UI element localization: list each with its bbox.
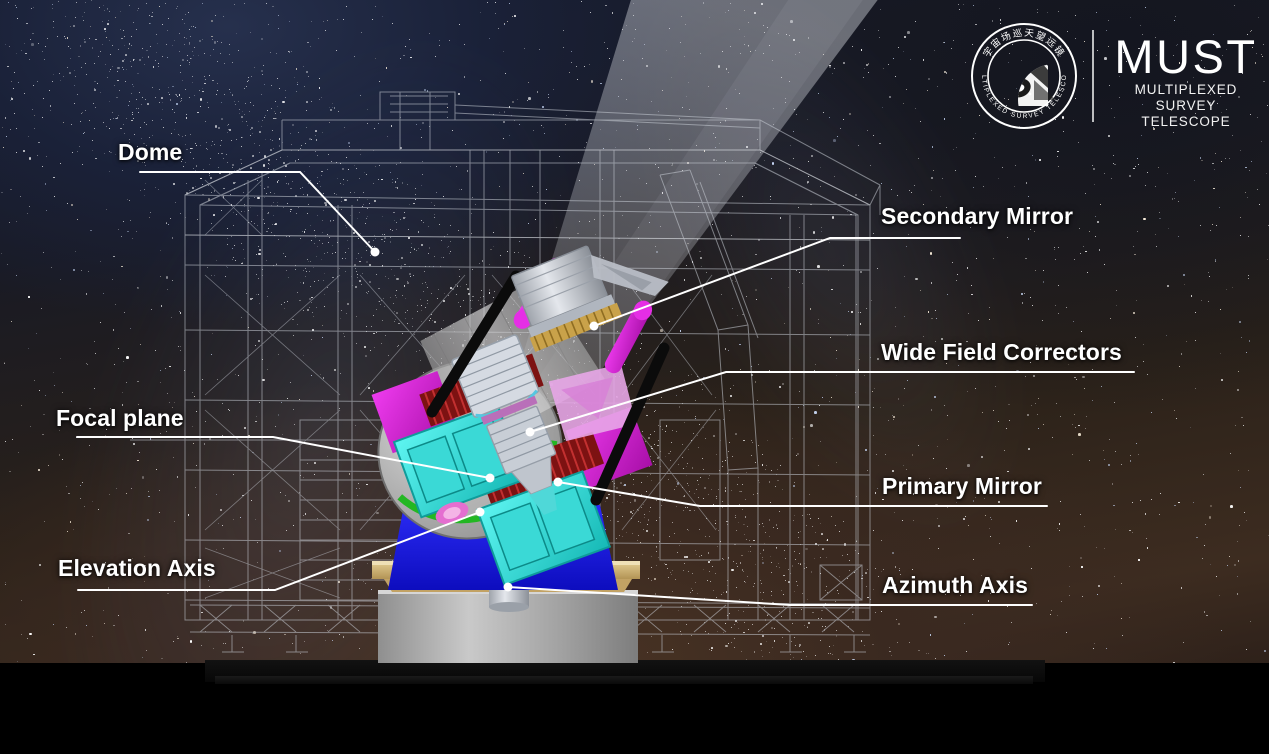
- logo-divider: [1092, 30, 1094, 122]
- label-dome: Dome: [118, 139, 182, 166]
- label-secondary-mirror: Secondary Mirror: [881, 203, 1073, 230]
- must-emblem-icon: 宇宙场巡天望远镜 MULTIPLEXED SURVEY TELESCOPE: [970, 22, 1078, 130]
- must-subtitle-line1: MULTIPLEXED: [1110, 82, 1262, 98]
- svg-text:宇宙场巡天望远镜: 宇宙场巡天望远镜: [981, 28, 1068, 60]
- must-logo: 宇宙场巡天望远镜 MULTIPLEXED SURVEY TELESCOPE: [970, 22, 1260, 132]
- must-subtitle-line2: SURVEY TELESCOPE: [1110, 98, 1262, 130]
- label-wide-field-correctors: Wide Field Correctors: [881, 339, 1122, 366]
- ground-slab-edge: [215, 676, 1033, 684]
- label-elevation-axis: Elevation Axis: [58, 555, 216, 582]
- must-wordmark-text: MUST: [1110, 32, 1262, 82]
- label-azimuth-axis: Azimuth Axis: [882, 572, 1028, 599]
- label-primary-mirror: Primary Mirror: [882, 473, 1042, 500]
- secondary-mirror: [506, 222, 675, 351]
- label-focal-plane: Focal plane: [56, 405, 184, 432]
- must-wordmark: MUST MULTIPLEXED SURVEY TELESCOPE: [1110, 32, 1262, 130]
- diagram-canvas: Dome Focal plane Elevation Axis Secondar…: [0, 0, 1269, 754]
